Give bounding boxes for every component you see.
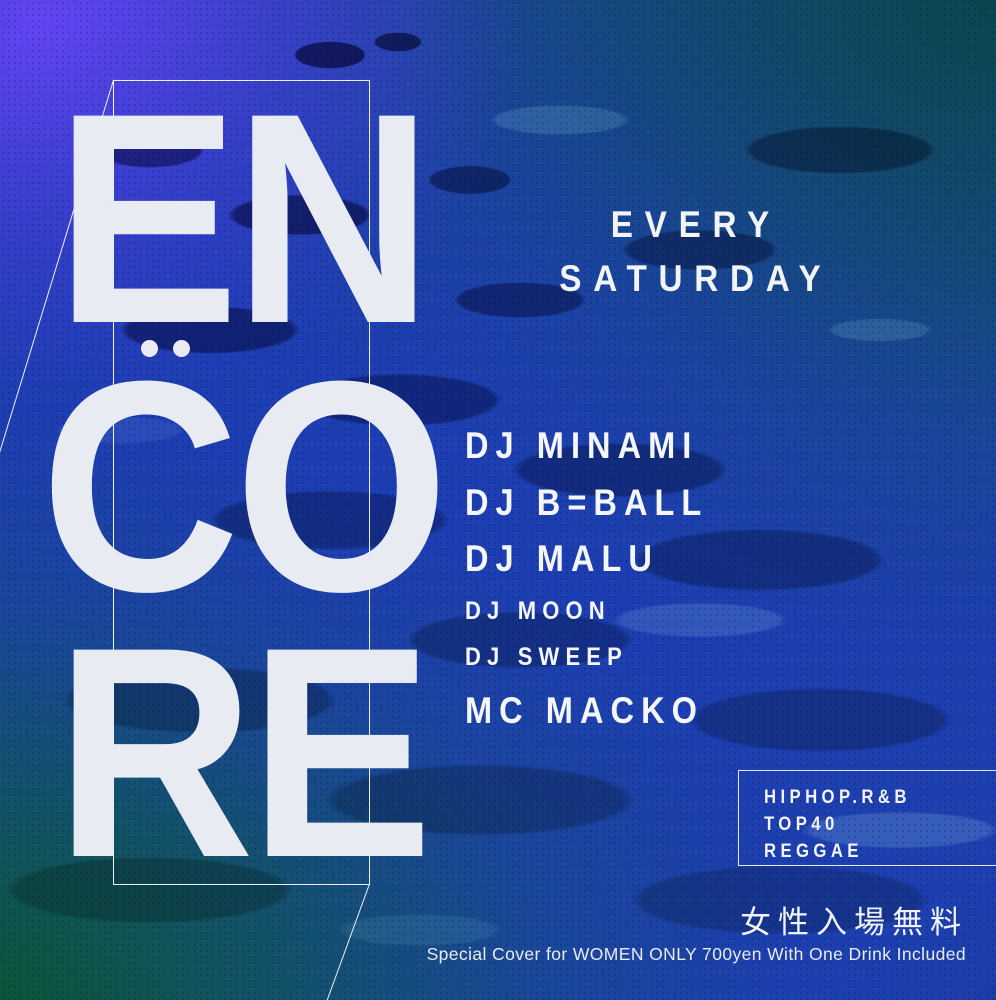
heading-line-saturday: SATURDAY	[465, 252, 915, 306]
encore-title-line-2: CO	[40, 354, 443, 618]
lineup-item-dj-sweep: DJ SWEEP	[465, 634, 879, 681]
admission-notice-english: Special Cover for WOMEN ONLY 700yen With…	[427, 944, 966, 965]
lineup-item-dj-malu: DJ MALU	[465, 531, 879, 588]
music-genre-box: HIPHOP.R&B TOP40 REGGAE	[738, 770, 996, 866]
encore-title-line-3: RE	[55, 620, 427, 884]
event-flyer: EN CO RE EVERY SATURDAY DJ MINAMI DJ B=B…	[0, 0, 996, 1000]
diaeresis-dot-right	[173, 340, 190, 357]
lineup-item-dj-moon: DJ MOON	[465, 588, 879, 635]
genre-line-reggae: REGGAE	[764, 839, 996, 866]
lineup-item-dj-bball: DJ B=BALL	[465, 475, 879, 532]
lineup-item-dj-minami: DJ MINAMI	[465, 418, 879, 475]
heading-line-every: EVERY	[465, 198, 915, 252]
genre-line-hiphop-rnb: HIPHOP.R&B	[764, 785, 996, 812]
genre-line-top40: TOP40	[764, 812, 996, 839]
dj-lineup-list: DJ MINAMI DJ B=BALL DJ MALU DJ MOON DJ S…	[465, 418, 935, 739]
diaeresis-dot-left	[141, 340, 158, 357]
encore-title: EN CO RE	[113, 80, 370, 885]
event-frequency-heading: EVERY SATURDAY	[440, 198, 940, 305]
encore-title-line-1: EN	[55, 86, 427, 350]
lineup-item-mc-macko: MC MACKO	[465, 683, 879, 740]
admission-notice-japanese: 女性入場無料	[740, 897, 968, 942]
